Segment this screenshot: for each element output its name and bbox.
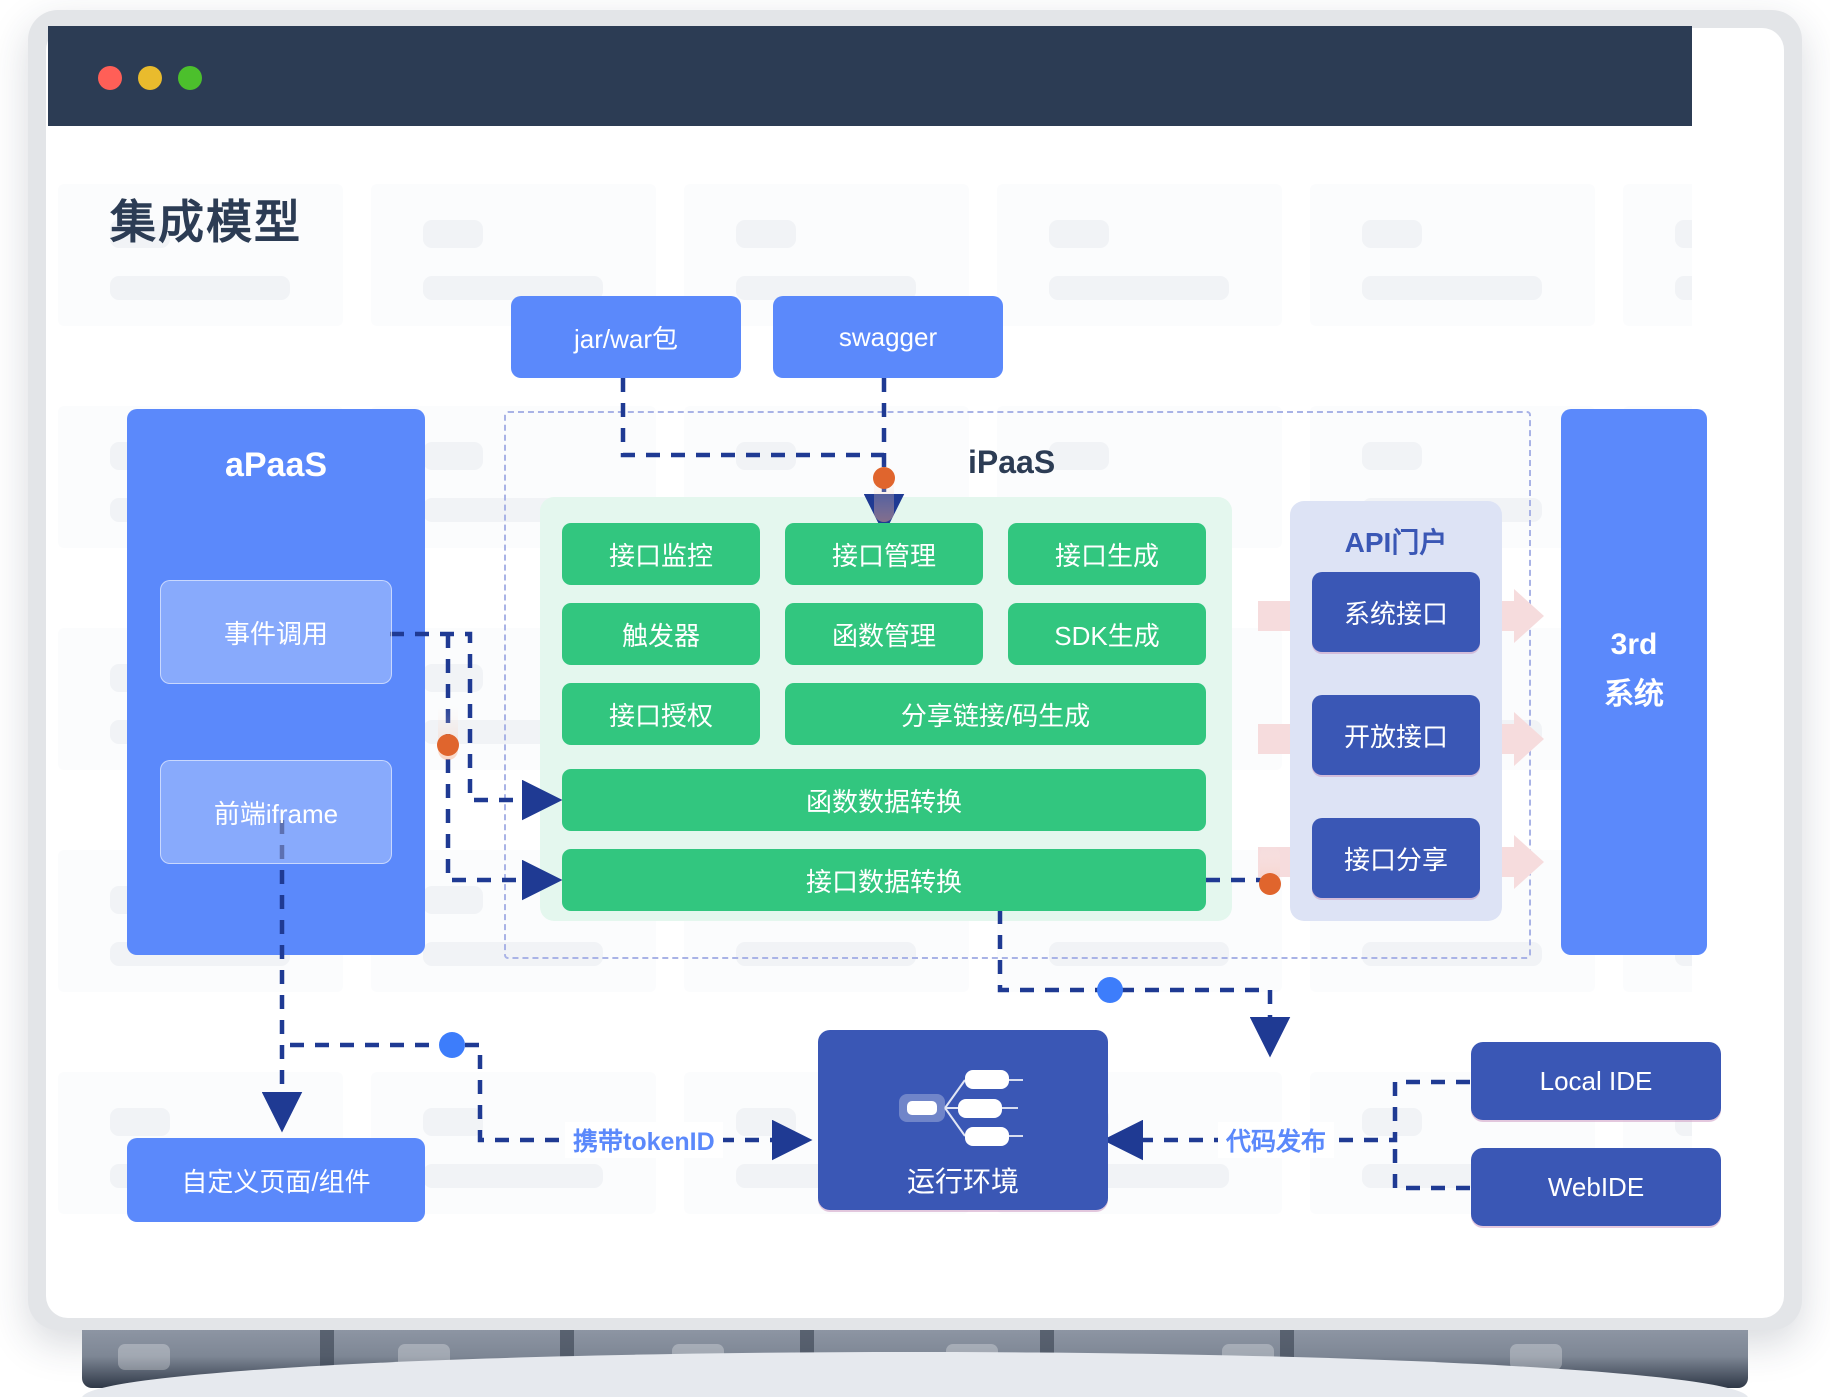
skeleton-bar [1049,276,1229,300]
skeleton-pill [423,442,483,470]
panel-third-party-label: 3rd 系统 [1561,620,1707,720]
skeleton-bar [1362,276,1542,300]
node-web-ide[interactable]: WebIDE [1471,1148,1721,1226]
page-title: 集成模型 [110,186,302,252]
tile-api-monitor[interactable]: 接口监控 [562,523,760,585]
third-party-line1: 3rd [1561,620,1707,670]
skeleton-bar [1675,276,1692,300]
skeleton-bar [423,1164,603,1188]
skeleton-pill [736,1108,796,1136]
panel-api-portal-title: API门户 [1290,521,1502,561]
node-event-call[interactable]: 事件调用 [160,580,392,684]
node-system-api[interactable]: 系统接口 [1312,572,1480,652]
edge-label-token-id: 携带tokenID [565,1122,723,1158]
minimize-icon[interactable] [138,66,162,90]
tile-api-data-transform[interactable]: 接口数据转换 [562,849,1206,911]
node-custom-page[interactable]: 自定义页面/组件 [127,1138,425,1222]
node-open-api[interactable]: 开放接口 [1312,695,1480,775]
maximize-icon[interactable] [178,66,202,90]
skeleton-pill [1362,220,1422,248]
skeleton-pill [110,1108,170,1136]
tile-api-generate[interactable]: 接口生成 [1008,523,1206,585]
skeleton-pill [423,220,483,248]
skeleton-bar [110,276,290,300]
skeleton-pill [423,664,483,692]
node-api-share[interactable]: 接口分享 [1312,818,1480,898]
screenshot-root: 集成模型 [0,0,1830,1397]
tile-trigger[interactable]: 触发器 [562,603,760,665]
skeleton-pill [423,886,483,914]
tile-share-link[interactable]: 分享链接/码生成 [785,683,1206,745]
tile-api-auth[interactable]: 接口授权 [562,683,760,745]
window-titlebar [48,26,1692,126]
node-local-ide[interactable]: Local IDE [1471,1042,1721,1120]
close-icon[interactable] [98,66,122,90]
tile-func-data-transform[interactable]: 函数数据转换 [562,769,1206,831]
skeleton-pill [1675,220,1692,248]
third-party-line2: 系统 [1561,670,1707,720]
skeleton-card [1623,184,1692,326]
tile-func-manage[interactable]: 函数管理 [785,603,983,665]
skeleton-pill [736,220,796,248]
node-swagger[interactable]: swagger [773,296,1003,378]
skeleton-pill [423,1108,483,1136]
skeleton-pill [1362,1108,1422,1136]
panel-apaas-title: aPaaS [127,440,425,490]
base-key [118,1344,170,1370]
skeleton-card [1310,184,1595,326]
node-front-iframe[interactable]: 前端iframe [160,760,392,864]
region-ipaas-title: iPaaS [968,444,1055,481]
node-jar-war[interactable]: jar/war包 [511,296,741,378]
edge-label-code-publish: 代码发布 [1218,1122,1334,1158]
tile-sdk-generate[interactable]: SDK生成 [1008,603,1206,665]
node-runtime-label: 运行环境 [818,1160,1108,1200]
tile-api-manage[interactable]: 接口管理 [785,523,983,585]
runtime-tree-icon [895,1062,1035,1152]
skeleton-card [997,184,1282,326]
skeleton-pill [1049,220,1109,248]
